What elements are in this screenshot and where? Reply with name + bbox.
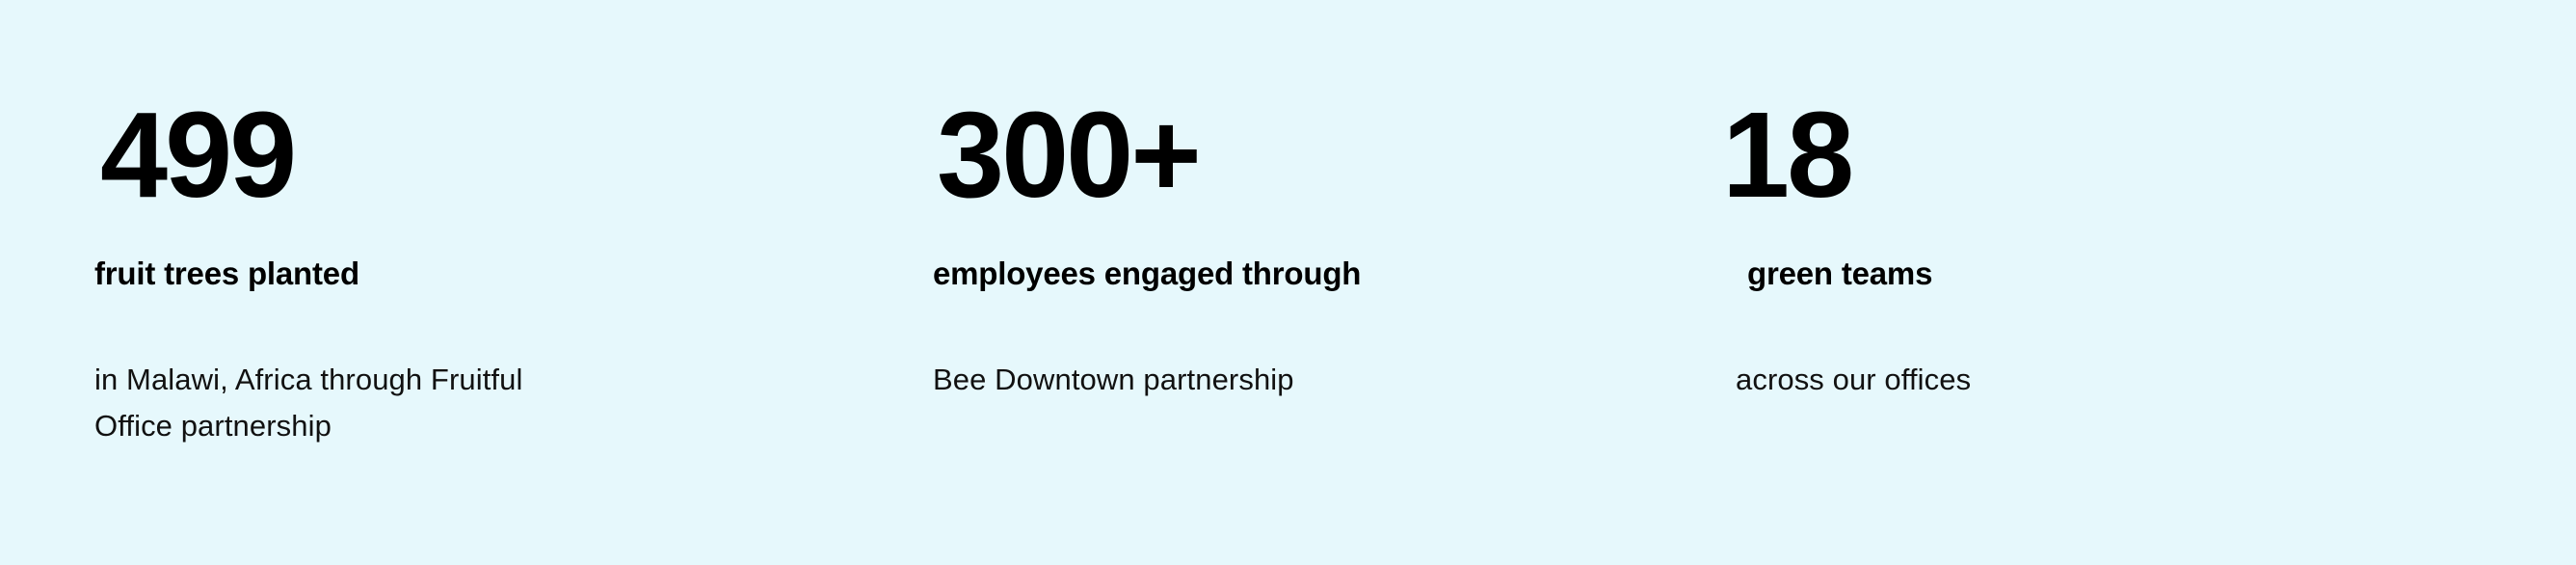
stat-description-line-1: across our offices [1736, 363, 1971, 396]
stat-value-fruit-trees: 499 [100, 94, 294, 216]
stat-description-employees-engaged: Bee Downtown partnership [933, 357, 1511, 403]
stat-card-employees-engaged: 300+ employees engaged through Bee Downt… [896, 0, 1648, 565]
stat-value-green-teams: 18 [1722, 94, 1851, 216]
stat-card-green-teams: 18 green teams across our offices [1682, 0, 2414, 565]
stat-description-line-2: Office partnership [94, 409, 332, 443]
stat-description-line-1: in Malawi, Africa through Fruitful [94, 363, 522, 396]
stat-description-green-teams: across our offices [1736, 357, 2275, 403]
stat-label-fruit-trees: fruit trees planted [94, 256, 359, 291]
impact-stats-band: 499 fruit trees planted in Malawi, Afric… [0, 0, 2576, 565]
stat-card-fruit-trees: 499 fruit trees planted in Malawi, Afric… [60, 0, 831, 565]
stat-label-green-teams: green teams [1747, 256, 1932, 291]
stat-description-fruit-trees: in Malawi, Africa through Fruitful Offic… [94, 357, 634, 449]
stat-description-line-1: Bee Downtown partnership [933, 363, 1294, 396]
stat-value-employees-engaged: 300+ [937, 94, 1199, 216]
stat-label-employees-engaged: employees engaged through [933, 256, 1361, 291]
